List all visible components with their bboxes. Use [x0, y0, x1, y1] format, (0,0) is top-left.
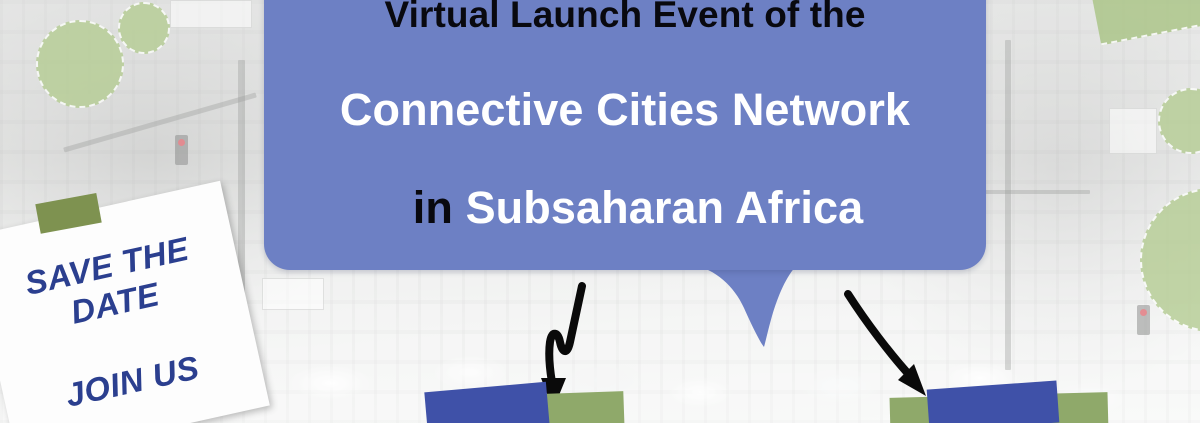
headline-line-3-main: Subsaharan Africa	[466, 182, 864, 233]
green-circle-top-left-small	[118, 2, 170, 54]
headline-line-1: Virtual Launch Event of the	[264, 0, 986, 36]
headline-line-3: in Subsaharan Africa	[264, 182, 986, 234]
logo-banner-left	[420, 383, 620, 423]
headline-line-2: Connective Cities Network	[264, 84, 986, 136]
street-sign-left	[262, 278, 324, 310]
traffic-light-right	[1137, 305, 1150, 335]
logo-banner-left-blue	[424, 382, 549, 423]
logo-banner-right-blue	[927, 381, 1060, 423]
speech-bubble-text-block: Virtual Launch Event of the Connective C…	[264, 0, 986, 270]
headline-line-3-prefix: in	[413, 182, 453, 233]
street-sign-top	[170, 0, 252, 28]
green-circle-top-left-large	[36, 20, 124, 108]
logo-banner-right	[890, 383, 1110, 423]
traffic-light-left	[175, 135, 188, 165]
street-pole-3	[1005, 40, 1011, 370]
street-sign-right	[1109, 108, 1157, 154]
banner-canvas: Virtual Launch Event of the Connective C…	[0, 0, 1200, 423]
